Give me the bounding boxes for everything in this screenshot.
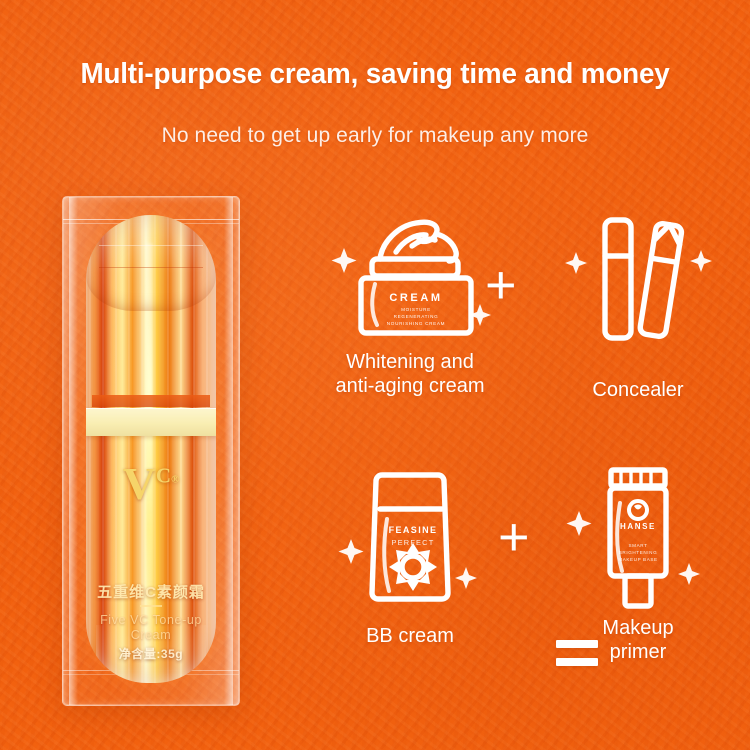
box-left-edge-highlight (69, 197, 78, 705)
caption-line-1: Makeup (538, 616, 738, 640)
cream-jar-icon-wrap: CREAM MOISTURE REGENERATING NOURISHING C… (310, 210, 510, 350)
jar-label: CREAM (389, 292, 442, 304)
concealer-icon-wrap (538, 210, 738, 350)
caption-line-2: anti-aging cream (310, 374, 510, 398)
tube-sublabel-3: MAKEUP BASE (618, 557, 657, 562)
sunburst-emblem-icon (389, 543, 437, 591)
jar-sublabel-3: NOURISHING CREAM (387, 321, 445, 326)
page-title: Multi-purpose cream, saving time and mon… (15, 58, 735, 91)
product-name-divider (140, 605, 162, 607)
registered-mark-icon: ® (171, 474, 179, 486)
jar-sublabel-2: REGENERATING (394, 314, 439, 319)
bb-bottle-label-2: PERFECT (392, 538, 435, 547)
caption-line-1: Whitening and (310, 350, 510, 374)
caption-bb-cream: BB cream (310, 624, 510, 648)
bottle-label-band (86, 408, 216, 436)
primer-tube-icon: HANSE SMART BRIGHTENING MAKEUP BASE (553, 463, 723, 613)
cream-bottle: VC® 五重维C素颜霜 Five VC Tone-up Cream 净含量:35… (86, 215, 216, 683)
bb-cream-bottle-icon: FEASINE PERFECT (325, 463, 495, 613)
sparkle-icon (690, 250, 712, 272)
equation-item-makeup-primer: HANSE SMART BRIGHTENING MAKEUP BASE Make… (538, 468, 738, 664)
band-shadow-strip (92, 395, 210, 407)
sparkle-icon (455, 567, 477, 589)
equation-item-whitening-cream: CREAM MOISTURE REGENERATING NOURISHING C… (310, 210, 510, 398)
cream-jar-icon: CREAM MOISTURE REGENERATING NOURISHING C… (320, 212, 500, 348)
bottle-bottom-sheen (96, 625, 205, 683)
bottle-dome-line-1 (99, 245, 203, 246)
vc-logo-letter: V (123, 458, 156, 509)
bb-bottle-label-1: FEASINE (389, 525, 438, 535)
tube-brand: HANSE (620, 522, 656, 531)
caption-line-1: BB cream (310, 624, 510, 648)
vc-logo-superscript: C (156, 464, 171, 488)
caption-line-1: Concealer (538, 378, 738, 402)
sparkle-icon (678, 563, 700, 585)
caption-makeup-primer: Makeup primer (538, 616, 738, 664)
bottle-dome-line-2 (99, 267, 203, 268)
benefit-equation-grid: + + CREAM MOIST (300, 210, 750, 710)
concealer-sticks-icon (553, 212, 723, 348)
acrylic-box: VC® 五重维C素颜霜 Five VC Tone-up Cream 净含量:35… (62, 196, 240, 706)
brand-mark-icon (634, 505, 642, 510)
sparkle-icon (332, 248, 357, 273)
tube-sublabel-1: SMART (629, 543, 648, 548)
product-packshot: VC® 五重维C素颜霜 Five VC Tone-up Cream 净含量:35… (62, 196, 240, 706)
sparkle-icon (339, 539, 364, 564)
product-name-cn: 五重维C素颜霜 (86, 581, 216, 602)
caption-line-2: primer (538, 640, 738, 664)
sparkle-icon (567, 511, 592, 536)
jar-sublabel-1: MOISTURE (401, 307, 431, 312)
sparkle-icon (565, 252, 587, 274)
equation-item-bb-cream: FEASINE PERFECT BB cream (310, 468, 510, 648)
primer-icon-wrap: HANSE SMART BRIGHTENING MAKEUP BASE (538, 468, 738, 608)
tube-sublabel-2: BRIGHTENING (619, 550, 658, 555)
caption-concealer: Concealer (538, 378, 738, 402)
caption-whitening-cream: Whitening and anti-aging cream (310, 350, 510, 398)
page-subtitle: No need to get up early for makeup any m… (0, 124, 750, 148)
equation-item-concealer: Concealer (538, 210, 738, 402)
bb-cream-icon-wrap: FEASINE PERFECT (310, 468, 510, 608)
vc-logo: VC® (86, 461, 216, 507)
box-right-edge-highlight (224, 197, 233, 705)
